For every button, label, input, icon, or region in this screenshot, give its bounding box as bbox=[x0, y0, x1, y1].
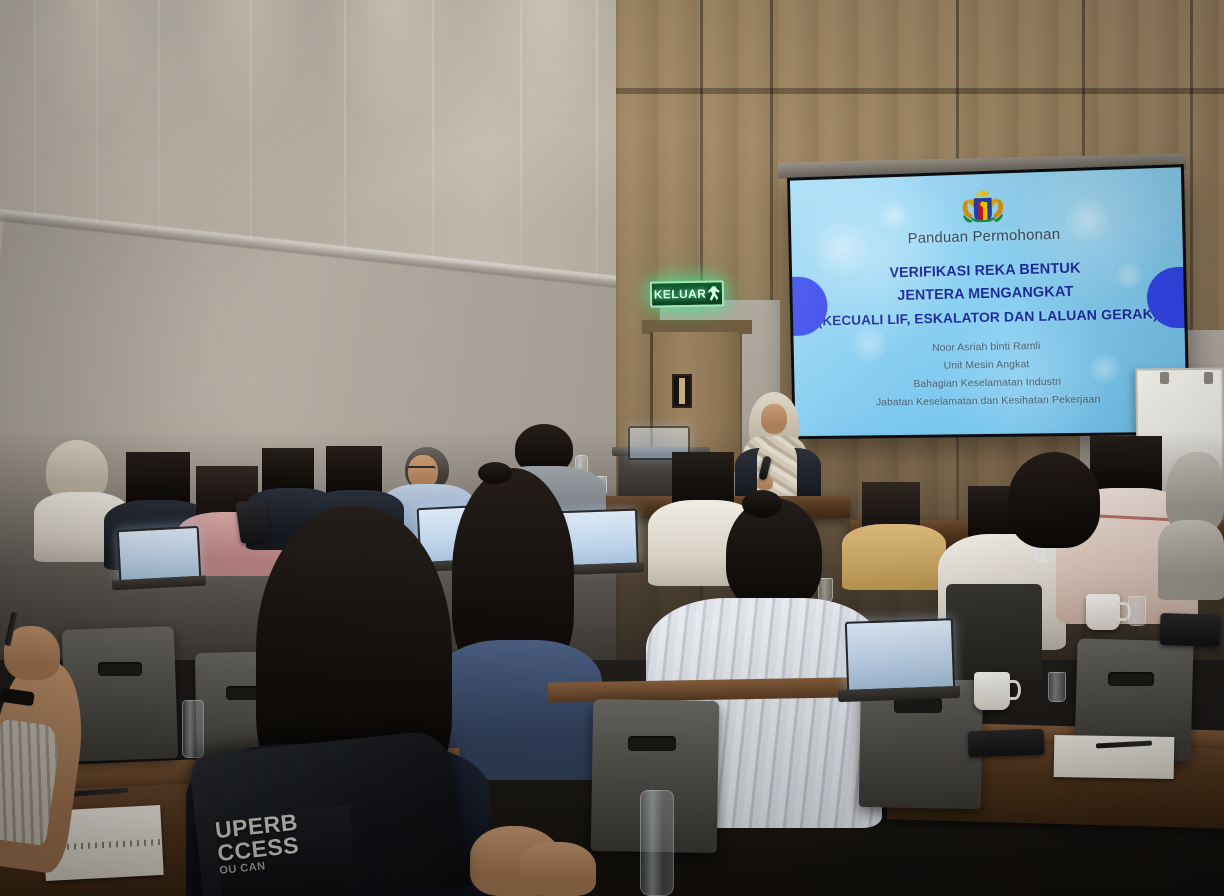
slide-bokeh bbox=[879, 200, 909, 231]
laptop-screen[interactable] bbox=[117, 526, 202, 582]
chair-handle bbox=[894, 698, 942, 713]
running-man-exit-icon bbox=[708, 286, 720, 301]
flipchart-clip bbox=[1160, 372, 1169, 384]
presentation-slide: Panduan Permohonan VERIFIKASI REKA BENTU… bbox=[790, 167, 1187, 436]
slide-credit-line-2: Unit Mesin Angkat bbox=[794, 355, 1185, 374]
glasses-icon bbox=[406, 466, 436, 473]
laptop-screen[interactable] bbox=[845, 618, 955, 692]
chair-handle bbox=[98, 662, 142, 676]
chair-handle bbox=[628, 736, 676, 751]
water-bottle bbox=[182, 700, 204, 758]
slide-credit-line-4: Jabatan Keselamatan dan Kesihatan Pekerj… bbox=[795, 392, 1186, 410]
audience-body bbox=[842, 524, 946, 590]
audience-head bbox=[326, 446, 382, 496]
water-glass bbox=[1128, 596, 1146, 626]
backpack-logo-patch: UPERB CCESS OU CAN bbox=[214, 805, 358, 896]
chair[interactable] bbox=[946, 584, 1042, 680]
coffee-mug bbox=[974, 672, 1010, 710]
exit-sign: KELUAR bbox=[650, 280, 724, 307]
slide-credit-line-3: Bahagian Keselamatan Industri bbox=[794, 374, 1185, 392]
door-vision-glass bbox=[679, 378, 685, 404]
audience-hair-bun bbox=[742, 490, 782, 518]
exit-sign-label: KELUAR bbox=[654, 288, 707, 301]
smartphone[interactable] bbox=[968, 729, 1045, 758]
malaysia-coat-of-arms-icon bbox=[956, 187, 1010, 223]
water-glass bbox=[1048, 672, 1066, 702]
chair-handle bbox=[1108, 672, 1154, 686]
mug-handle bbox=[1008, 680, 1021, 700]
coffee-mug bbox=[1086, 594, 1120, 630]
audience-hair-bun bbox=[478, 462, 512, 484]
smartphone[interactable] bbox=[235, 498, 271, 544]
flipchart-clip bbox=[1204, 372, 1213, 384]
presenter-face bbox=[761, 404, 787, 434]
wood-wall-top-band bbox=[616, 88, 1224, 94]
smartphone[interactable] bbox=[1159, 613, 1220, 647]
slide-title-line-3: (KECUALI LIF, ESKALATOR DAN LALUAN GERAK… bbox=[793, 305, 1184, 329]
foreground-head bbox=[1008, 452, 1100, 548]
audience-head bbox=[1090, 436, 1162, 496]
audience-body bbox=[1158, 520, 1224, 600]
water-bottle bbox=[640, 790, 674, 896]
seminar-room-photo: KELUAR bbox=[0, 0, 1224, 896]
slide-bokeh bbox=[851, 326, 887, 362]
wall-wash-light bbox=[488, 0, 608, 300]
foreground-hand bbox=[520, 842, 596, 896]
projection-screen: Panduan Permohonan VERIFIKASI REKA BENTU… bbox=[787, 164, 1190, 439]
